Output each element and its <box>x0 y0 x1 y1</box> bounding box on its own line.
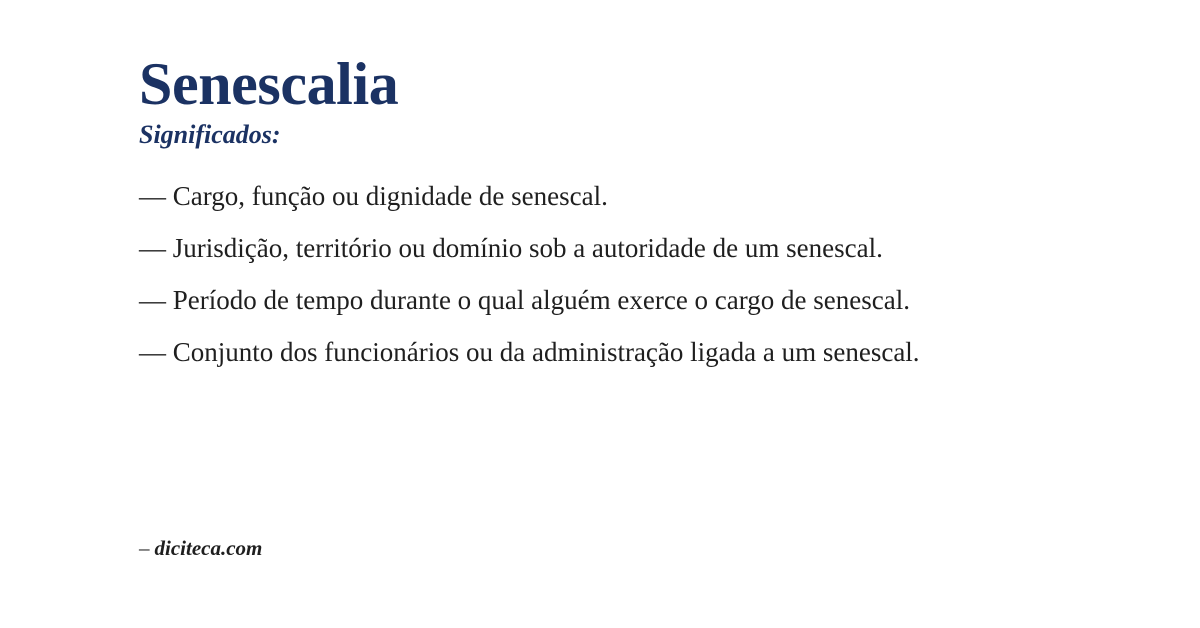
entry-content: Senescalia Significados: — Cargo, função… <box>139 52 1069 370</box>
dictionary-entry-card: Senescalia Significados: — Cargo, função… <box>0 0 1200 628</box>
definition-text: Conjunto dos funcionários ou da administ… <box>173 337 920 367</box>
definition-text: Cargo, função ou dignidade de senescal. <box>173 181 608 211</box>
source-site-name: diciteca.com <box>155 536 263 560</box>
list-item: — Cargo, função ou dignidade de senescal… <box>139 179 1051 214</box>
em-dash-marker: — <box>139 181 166 211</box>
page-title: Senescalia <box>139 52 1069 117</box>
definition-text: Período de tempo durante o qual alguém e… <box>173 285 910 315</box>
list-item: — Período de tempo durante o qual alguém… <box>139 283 1051 318</box>
en-dash-marker: – <box>139 536 150 560</box>
em-dash-marker: — <box>139 337 166 367</box>
em-dash-marker: — <box>139 285 166 315</box>
definition-list: — Cargo, função ou dignidade de senescal… <box>139 179 1051 370</box>
section-label-significados: Significados: <box>139 121 1069 150</box>
list-item: — Jurisdição, território ou domínio sob … <box>139 231 1051 266</box>
definition-text: Jurisdição, território ou domínio sob a … <box>173 233 883 263</box>
source-attribution: –diciteca.com <box>139 534 262 562</box>
em-dash-marker: — <box>139 233 166 263</box>
list-item: — Conjunto dos funcionários ou da admini… <box>139 335 1051 370</box>
